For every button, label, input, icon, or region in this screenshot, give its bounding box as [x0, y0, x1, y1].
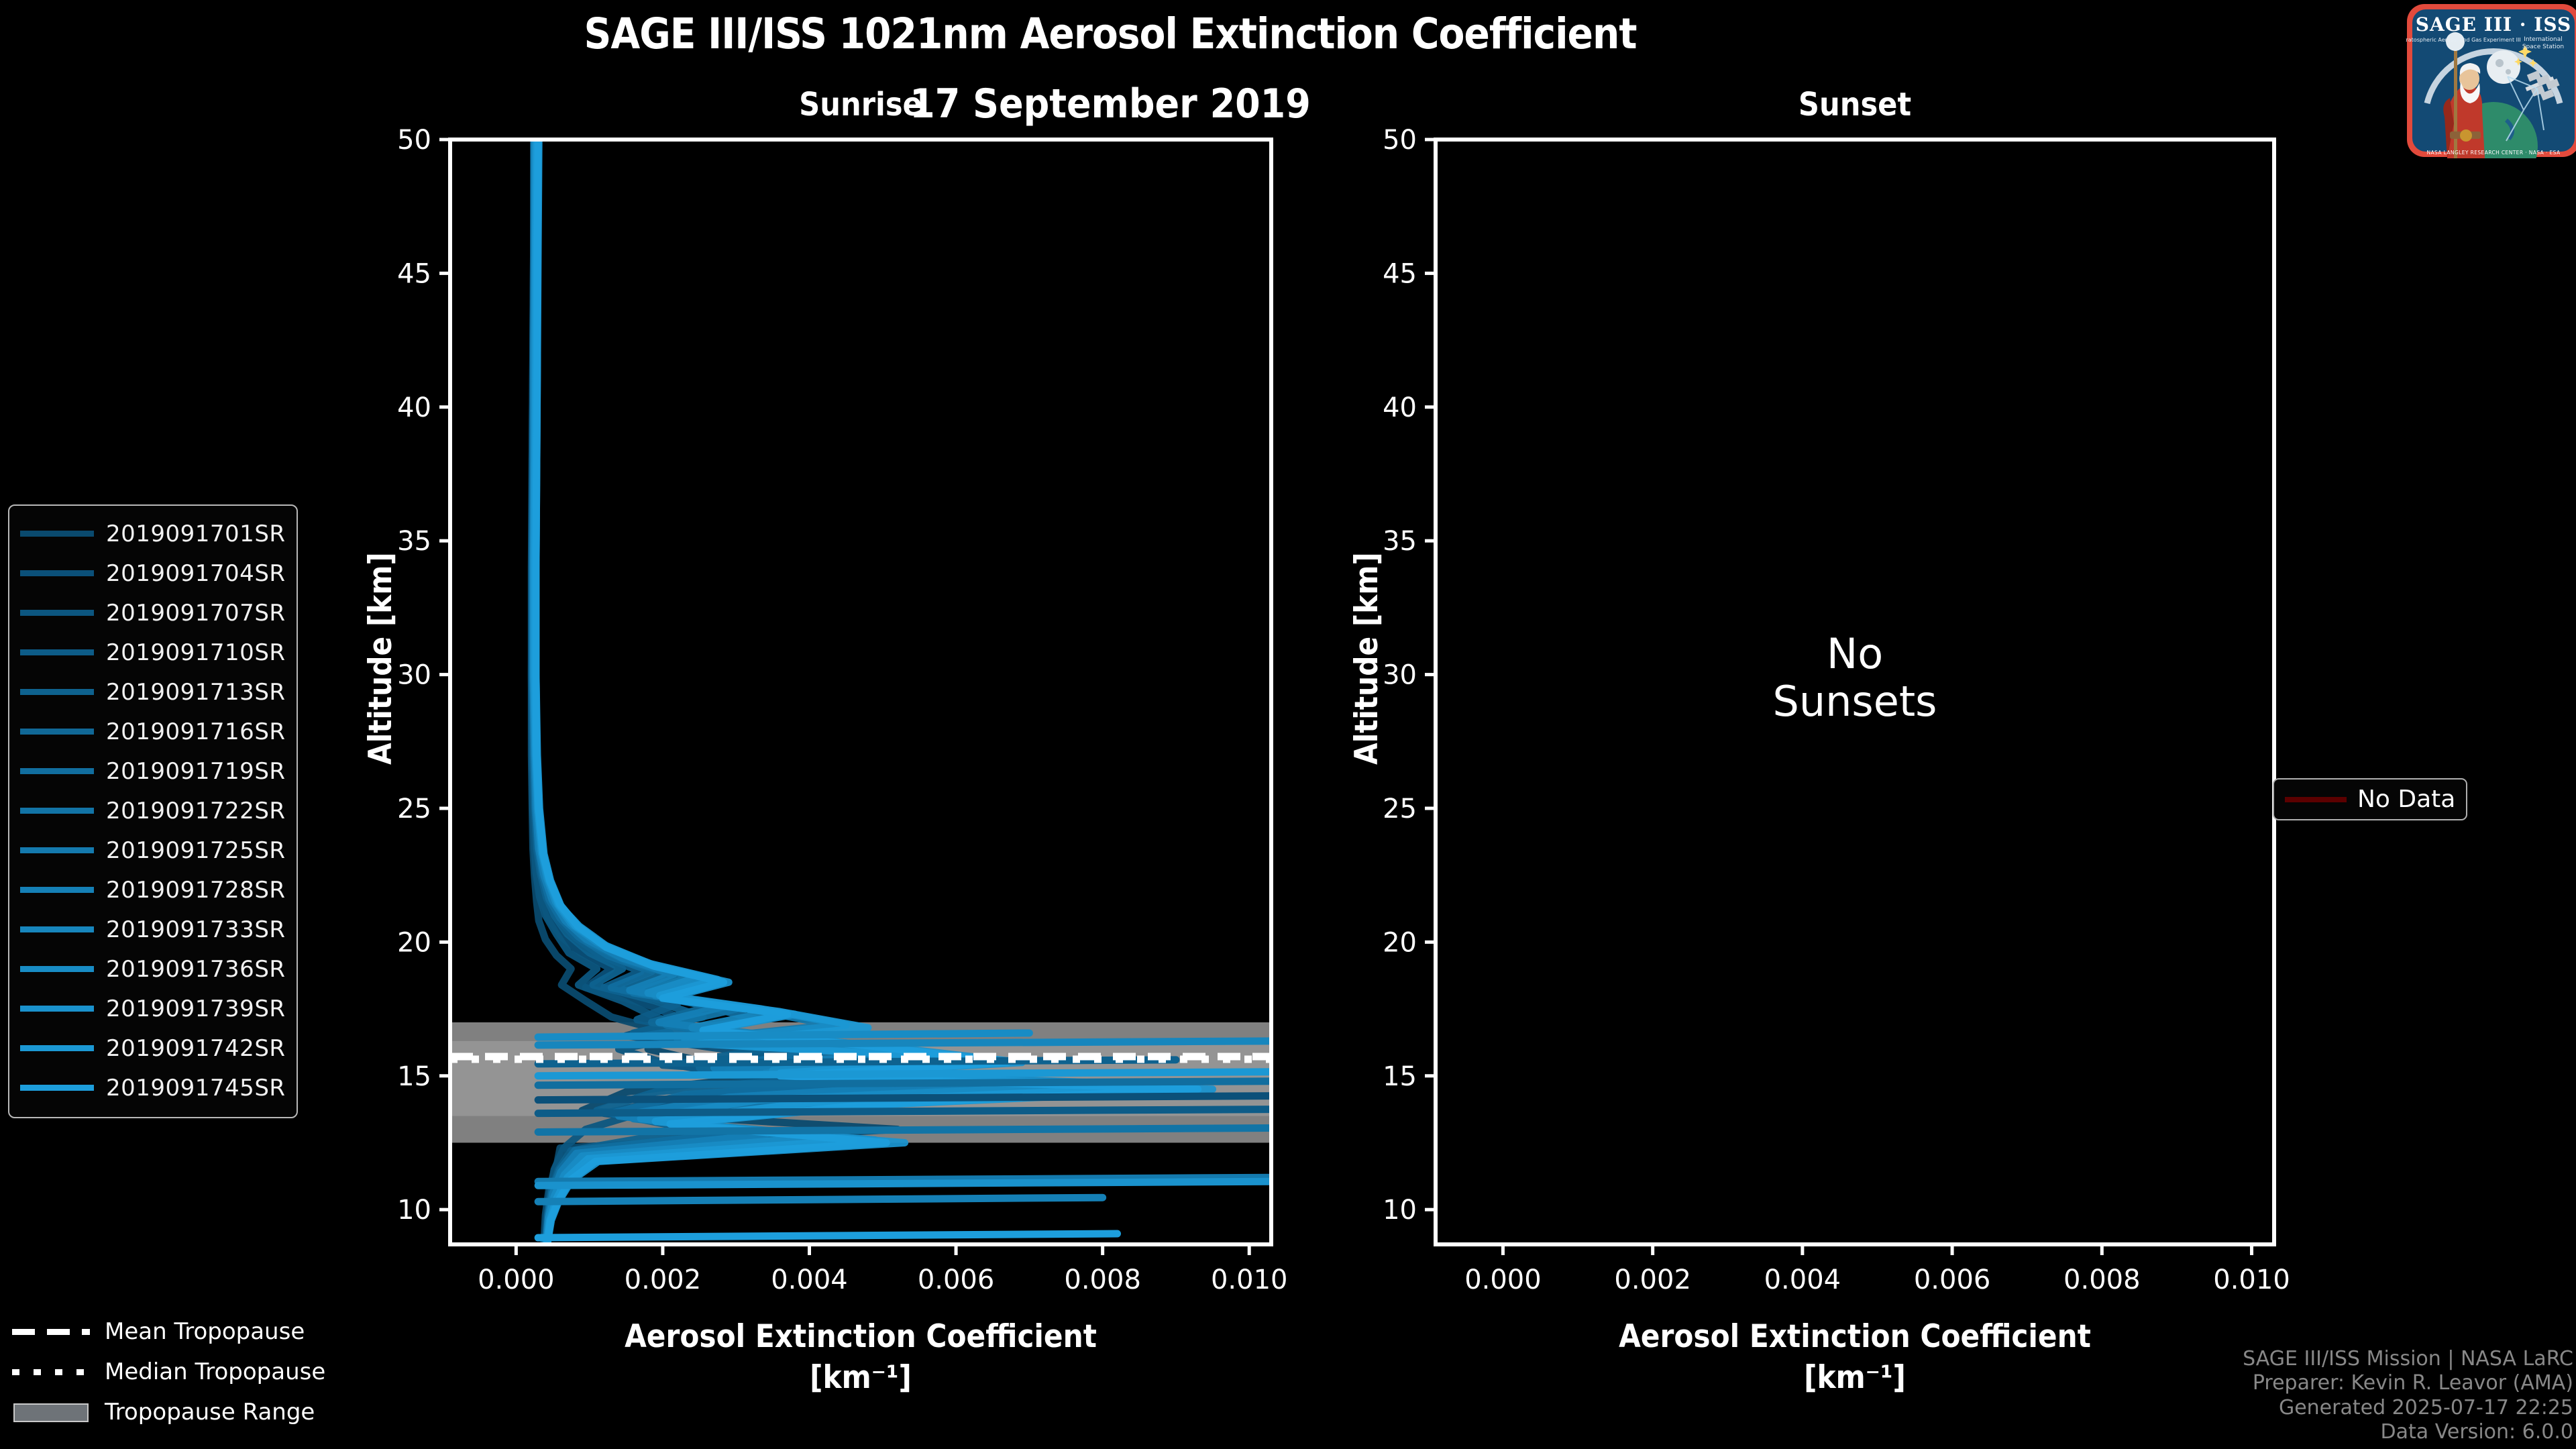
- profile-line-swatch: [20, 887, 94, 893]
- profile-legend-label: 2019091733SR: [106, 916, 286, 943]
- profile-line-swatch: [20, 570, 94, 576]
- profile-line: [538, 1181, 1271, 1185]
- tropopause-dashed-key: [12, 1323, 90, 1340]
- y-tick-label: 20: [397, 927, 431, 958]
- profile-line-swatch: [20, 610, 94, 616]
- profile-line-swatch: [20, 1085, 94, 1091]
- x-axis-unit-left: [km⁻¹]: [403, 1359, 1318, 1396]
- profile-line: [538, 1072, 1271, 1076]
- profile-legend-label: 2019091716SR: [106, 718, 286, 745]
- profile-legend-label: 2019091701SR: [106, 521, 286, 547]
- no-data-legend[interactable]: No Data: [2273, 778, 2467, 820]
- profile-line-swatch: [20, 926, 94, 932]
- x-tick-label: 0.000: [478, 1265, 555, 1295]
- profile-line: [538, 1081, 1271, 1085]
- profile-line-swatch: [20, 1006, 94, 1012]
- profile-legend-item[interactable]: 2019091707SR: [20, 593, 286, 633]
- tropopause-legend: Mean TropopauseMedian TropopauseTropopau…: [12, 1311, 325, 1432]
- profile-legend-item[interactable]: 2019091742SR: [20, 1028, 286, 1068]
- x-axis-unit-right: [km⁻¹]: [1389, 1359, 2321, 1396]
- y-tick-label: 25: [1383, 794, 1417, 824]
- x-tick-label: 0.006: [918, 1265, 995, 1295]
- x-axis-label-right: Aerosol Extinction Coefficient [km⁻¹]: [1389, 1318, 2321, 1396]
- no-data-line-swatch: [2285, 797, 2347, 802]
- profile-line-swatch: [20, 689, 94, 695]
- y-tick-label: 35: [397, 526, 431, 557]
- profile-legend-item[interactable]: 2019091725SR: [20, 830, 286, 870]
- logo-subtitle-right-2: Space Station: [2522, 44, 2564, 50]
- x-tick-label: 0.002: [625, 1265, 702, 1295]
- tropopause-legend-item: Mean Tropopause: [12, 1311, 325, 1352]
- no-sunsets-line2: Sunsets: [1436, 678, 2274, 726]
- profile-legend-item[interactable]: 2019091719SR: [20, 751, 286, 791]
- profile-line: [538, 1110, 1271, 1114]
- profile-legend-item[interactable]: 2019091701SR: [20, 514, 286, 553]
- y-tick-label: 10: [397, 1195, 431, 1226]
- tropopause-legend-label: Mean Tropopause: [105, 1318, 305, 1345]
- profile-legend-item[interactable]: 2019091733SR: [20, 910, 286, 949]
- profile-legend-label: 2019091745SR: [106, 1075, 286, 1102]
- logo-subtitle-right-1: International: [2524, 36, 2562, 43]
- profile-legend-label: 2019091728SR: [106, 877, 286, 904]
- y-axis-label-left: Altitude [km]: [362, 552, 399, 765]
- profile-line: [538, 1096, 1271, 1100]
- tropopause-dotted-key: [12, 1363, 90, 1381]
- profile-line-swatch: [20, 1045, 94, 1051]
- x-tick-label: 0.008: [1064, 1265, 1141, 1295]
- profile-legend-label: 2019091710SR: [106, 639, 286, 666]
- y-tick-label: 45: [397, 258, 431, 289]
- tropopause-legend-label: Median Tropopause: [105, 1358, 325, 1385]
- profile-legend-label: 2019091725SR: [106, 837, 286, 864]
- x-axis-label-text-right: Aerosol Extinction Coefficient: [1619, 1318, 2091, 1355]
- credits-data-version: Data Version: 6.0.0: [2243, 1420, 2573, 1445]
- x-tick-label: 0.010: [1211, 1265, 1288, 1295]
- profile-line: [538, 1234, 1117, 1238]
- y-tick-label: 50: [397, 125, 431, 156]
- x-axis-label-text-left: Aerosol Extinction Coefficient: [625, 1318, 1097, 1355]
- profile-legend-item[interactable]: 2019091728SR: [20, 870, 286, 910]
- tropopause-legend-item: Median Tropopause: [12, 1352, 325, 1392]
- y-tick-label: 25: [397, 794, 431, 824]
- logo-subtitle-left: Stratospheric Aerosol and Gas Experiment…: [2406, 37, 2521, 43]
- x-tick-label: 0.002: [1614, 1265, 1691, 1295]
- profile-line: [538, 1041, 1271, 1045]
- logo-footer: NASA LANGLEY RESEARCH CENTER · NASA · ES…: [2427, 150, 2561, 156]
- credits-generated: Generated 2025-07-17 22:25: [2243, 1396, 2573, 1421]
- profile-legend-label: 2019091707SR: [106, 600, 286, 627]
- profile-legend-label: 2019091742SR: [106, 1035, 286, 1062]
- panel-sunrise: 1015202530354045500.0000.0020.0040.0060.…: [397, 125, 1287, 1295]
- y-tick-label: 30: [1383, 660, 1417, 691]
- profile-legend-item[interactable]: 2019091716SR: [20, 712, 286, 751]
- profile-legend-item[interactable]: 2019091713SR: [20, 672, 286, 712]
- x-axis-label-left: Aerosol Extinction Coefficient [km⁻¹]: [403, 1318, 1318, 1396]
- profile-line-swatch: [20, 729, 94, 735]
- profile-legend-label: 2019091713SR: [106, 679, 286, 706]
- profile-line-swatch: [20, 808, 94, 814]
- tropopause-patch-key: [12, 1403, 90, 1421]
- logo-moon-crater: [2506, 69, 2511, 74]
- no-data-legend-label: No Data: [2357, 786, 2455, 813]
- profile-legend-label: 2019091736SR: [106, 956, 286, 983]
- y-axis-label-right: Altitude [km]: [1348, 552, 1385, 765]
- x-tick-label: 0.004: [771, 1265, 848, 1295]
- profile-legend-item[interactable]: 2019091710SR: [20, 633, 286, 672]
- profile-legend-item[interactable]: 2019091736SR: [20, 949, 286, 989]
- x-tick-label: 0.008: [2063, 1265, 2141, 1295]
- profile-legend-label: 2019091704SR: [106, 560, 286, 587]
- x-tick-label: 0.006: [1914, 1265, 1991, 1295]
- y-tick-label: 20: [1383, 927, 1417, 958]
- profile-line: [538, 1128, 1271, 1132]
- profile-line-swatch: [20, 531, 94, 537]
- profile-legend-label: 2019091719SR: [106, 758, 286, 785]
- profile-line-swatch: [20, 768, 94, 774]
- y-tick-label: 40: [1383, 392, 1417, 423]
- logo-moon: [2487, 50, 2520, 84]
- profile-line: [538, 1197, 1102, 1201]
- profile-legend-item[interactable]: 2019091722SR: [20, 791, 286, 830]
- sage-iii-iss-logo: SAGE III · ISSStratospheric Aerosol and …: [2406, 3, 2576, 158]
- profile-legend-label: 2019091739SR: [106, 996, 286, 1022]
- y-tick-label: 15: [1383, 1061, 1417, 1092]
- x-tick-label: 0.000: [1464, 1265, 1542, 1295]
- profile-line-swatch: [20, 966, 94, 972]
- logo-moon-crater: [2495, 59, 2504, 67]
- profile-line: [538, 1033, 1029, 1037]
- y-tick-label: 30: [397, 660, 431, 691]
- y-tick-label: 50: [1383, 125, 1417, 156]
- no-sunsets-message: No Sunsets: [1436, 631, 2274, 725]
- x-tick-label: 0.010: [2213, 1265, 2290, 1295]
- y-tick-label: 15: [397, 1061, 431, 1092]
- profile-legend-item[interactable]: 2019091745SR: [20, 1068, 286, 1108]
- profile-line-swatch: [20, 649, 94, 655]
- credits-preparer: Preparer: Kevin R. Leavor (AMA): [2243, 1371, 2573, 1396]
- y-tick-label: 10: [1383, 1195, 1417, 1226]
- profile-line: [538, 1060, 1176, 1064]
- tropopause-legend-item: Tropopause Range: [12, 1392, 325, 1432]
- x-tick-label: 0.004: [1764, 1265, 1841, 1295]
- no-sunsets-line1: No: [1436, 631, 2274, 678]
- y-tick-label: 35: [1383, 526, 1417, 557]
- logo-title: SAGE III · ISS: [2416, 13, 2571, 36]
- profile-legend-label: 2019091722SR: [106, 798, 286, 824]
- y-tick-label: 40: [397, 392, 431, 423]
- y-tick-label: 45: [1383, 258, 1417, 289]
- profile-line-swatch: [20, 847, 94, 853]
- profile-legend-item[interactable]: 2019091739SR: [20, 989, 286, 1028]
- profile-legend-item[interactable]: 2019091704SR: [20, 553, 286, 593]
- tropopause-legend-label: Tropopause Range: [105, 1399, 315, 1426]
- profile-legend[interactable]: 2019091701SR2019091704SR2019091707SR2019…: [8, 504, 298, 1118]
- credits-block: SAGE III/ISS Mission | NASA LaRC Prepare…: [2243, 1347, 2573, 1445]
- credits-mission: SAGE III/ISS Mission | NASA LaRC: [2243, 1347, 2573, 1372]
